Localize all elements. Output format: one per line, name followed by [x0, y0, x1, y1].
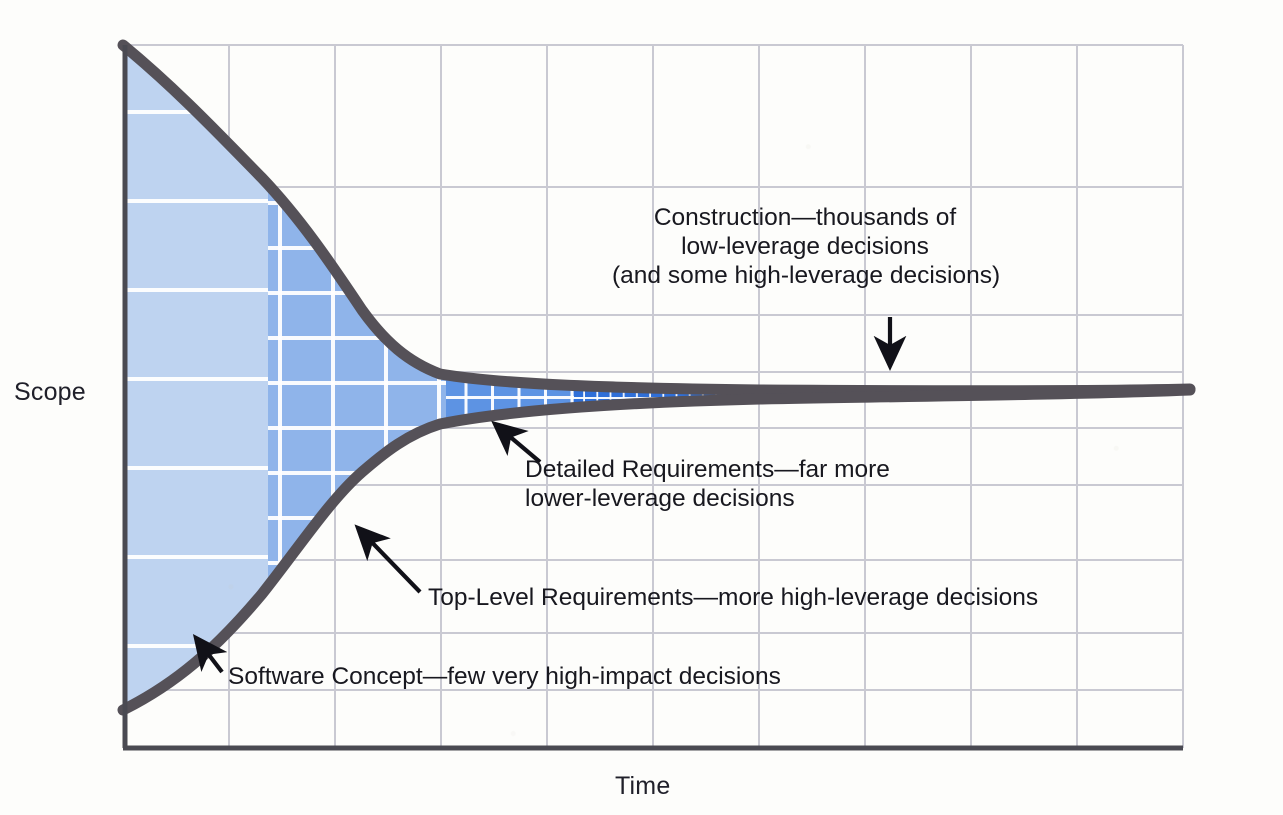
annotation-software-concept: Software Concept—few very high-impact de…	[228, 662, 781, 691]
y-axis-label: Scope	[14, 378, 86, 407]
scope-funnel-figure	[0, 0, 1283, 815]
x-axis-label: Time	[615, 772, 670, 801]
annotation-detailed-requirements: Detailed Requirements—far more lower-lev…	[525, 455, 890, 513]
annotation-construction: Construction—thousands of low-leverage d…	[612, 203, 998, 290]
annotation-top-level-requirements: Top-Level Requirements—more high-leverag…	[428, 583, 1038, 612]
